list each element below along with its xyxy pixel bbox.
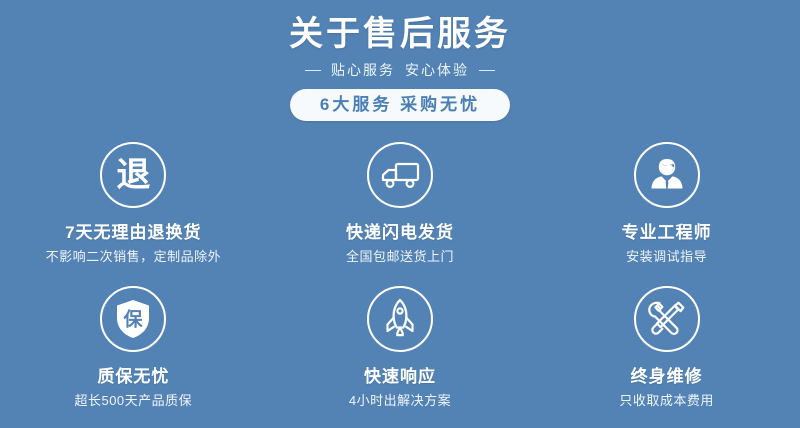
service-item-repair: 终身维修 只收取成本费用	[533, 278, 800, 422]
rocket-svg	[383, 298, 417, 340]
shield-glyph-character: 保	[123, 308, 144, 331]
service-subtitle: 安装调试指导	[626, 248, 707, 266]
after-sales-service-banner: 关于售后服务 贴心服务 安心体验 6大服务 采购无忧 退 7天无理由退换货 不影…	[0, 0, 800, 428]
service-title: 质保无忧	[97, 366, 169, 388]
service-title: 快速响应	[364, 366, 436, 388]
subtitle-text-a: 贴心服务	[331, 60, 395, 80]
service-subtitle: 全国包邮送货上门	[346, 248, 454, 266]
shield-warranty-icon: 保	[100, 286, 166, 352]
return-glyph-icon: 退	[100, 142, 166, 208]
engineer-person-icon	[634, 142, 700, 208]
service-title: 终身维修	[631, 366, 703, 388]
service-subtitle: 不影响二次销售，定制品除外	[46, 248, 222, 266]
banner-header: 关于售后服务 贴心服务 安心体验 6大服务 采购无忧	[0, 0, 800, 121]
banner-subtitle: 贴心服务 安心体验	[0, 60, 800, 80]
service-item-warranty: 保 质保无忧 超长500天产品质保	[0, 278, 267, 422]
subtitle-text-b: 安心体验	[405, 60, 469, 80]
service-item-shipping: 快递闪电发货 全国包邮送货上门	[267, 134, 534, 278]
service-subtitle: 4小时出解决方案	[349, 392, 451, 410]
service-grid: 退 7天无理由退换货 不影响二次销售，定制品除外 快递闪电发货 全国包邮送货上门	[0, 134, 800, 422]
service-title: 快递闪电发货	[346, 222, 454, 244]
subtitle-dash-left-icon	[305, 70, 321, 71]
engineer-person-svg	[648, 157, 686, 193]
service-item-response: 快速响应 4小时出解决方案	[267, 278, 534, 422]
delivery-truck-svg	[379, 160, 421, 190]
subtitle-dash-right-icon	[479, 70, 495, 71]
service-subtitle: 超长500天产品质保	[74, 392, 192, 410]
status-badge: 6大服务 采购无忧	[290, 89, 510, 121]
return-glyph-character: 退	[116, 158, 150, 192]
service-item-return: 退 7天无理由退换货 不影响二次销售，定制品除外	[0, 134, 267, 278]
wrench-screwdriver-icon	[634, 286, 700, 352]
service-subtitle: 只收取成本费用	[619, 392, 714, 410]
page-title: 关于售后服务	[0, 12, 800, 56]
rocket-icon	[367, 286, 433, 352]
delivery-truck-icon	[367, 142, 433, 208]
wrench-screwdriver-svg	[647, 299, 687, 339]
service-item-engineer: 专业工程师 安装调试指导	[533, 134, 800, 278]
service-title: 专业工程师	[622, 222, 712, 244]
service-title: 7天无理由退换货	[65, 222, 201, 244]
badge-container: 6大服务 采购无忧	[0, 89, 800, 121]
shield-warranty-svg: 保	[113, 298, 153, 340]
